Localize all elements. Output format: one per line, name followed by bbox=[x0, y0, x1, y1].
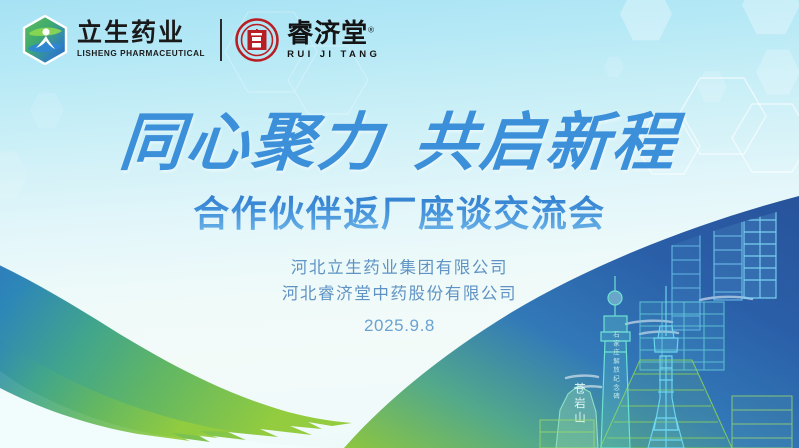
logo-ruijitang[interactable]: 睿济堂® RUI JI TANG bbox=[235, 18, 380, 62]
logo-ruijitang-cn: 睿济堂® bbox=[287, 20, 380, 46]
logo-ruijitang-en: RUI JI TANG bbox=[287, 50, 380, 60]
logo-lisheng-en: LISHENG PHARMACEUTICAL bbox=[77, 50, 205, 58]
headline-part1: 同心聚力 bbox=[117, 105, 387, 179]
hexagon-leaf-logo-icon bbox=[22, 15, 68, 65]
logo-lisheng-cn: 立生药业 bbox=[77, 21, 205, 46]
round-seal-logo-icon bbox=[235, 18, 279, 62]
registered-mark: ® bbox=[368, 26, 375, 35]
headline-part2: 共启新程 bbox=[411, 105, 681, 179]
logo-ruijitang-cn-text: 睿济堂 bbox=[287, 18, 368, 48]
company-name-1: 河北立生药业集团有限公司 bbox=[0, 255, 799, 281]
logo-divider bbox=[220, 19, 222, 61]
logo-lisheng[interactable]: 立生药业 LISHENG PHARMACEUTICAL bbox=[22, 15, 205, 65]
page-subtitle: 合作伙伴返厂座谈交流会 bbox=[0, 185, 799, 237]
company-name-2: 河北睿济堂中药股份有限公司 bbox=[0, 281, 799, 307]
company-names: 河北立生药业集团有限公司 河北睿济堂中药股份有限公司 bbox=[0, 255, 799, 307]
event-date: 2025.9.8 bbox=[0, 316, 799, 336]
logo-bar: 立生药业 LISHENG PHARMACEUTICAL 睿济堂® RUI bbox=[22, 14, 380, 66]
event-poster: 石家庄解放纪念碑 苍岩山 bbox=[0, 0, 799, 448]
page-title: 同心聚力共启新程 bbox=[0, 92, 799, 183]
